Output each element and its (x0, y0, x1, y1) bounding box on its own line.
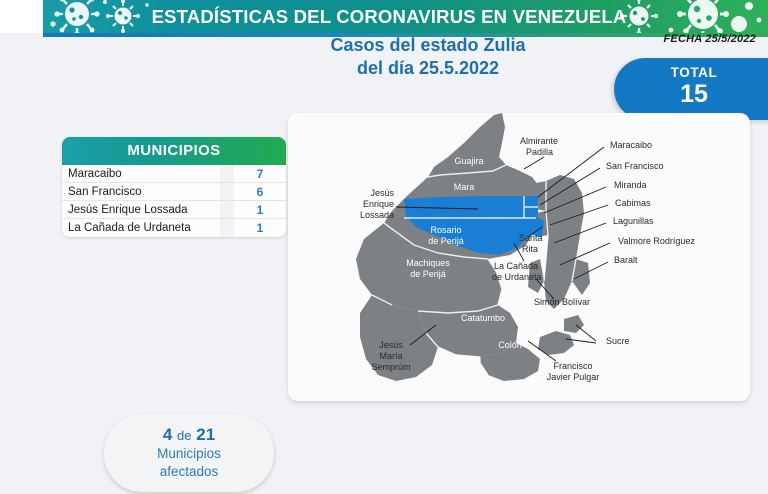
map-label: Valmore Rodríguez (618, 236, 695, 246)
map-label: Machiques (406, 258, 450, 268)
column-separator (220, 183, 234, 200)
table-row: San Francisco 6 (62, 183, 286, 201)
map-label: Rosario (430, 225, 461, 235)
table-row: Maracaibo 7 (62, 165, 286, 183)
total-label: TOTAL (614, 65, 768, 80)
municipality-guajira (428, 113, 506, 177)
map-label: Padilla (526, 147, 553, 157)
map-label: de Urdaneta (492, 272, 542, 282)
map-label: Francisco (553, 361, 592, 371)
municipio-name: La Cañada de Urdaneta (62, 222, 220, 234)
affected-count: 4 (163, 425, 172, 444)
main-title: Casos del estado Zulia del día 25.5.2022 (268, 34, 588, 80)
main-title-line2: del día 25.5.2022 (268, 57, 588, 80)
municipio-count: 1 (234, 221, 286, 235)
column-separator (220, 165, 234, 182)
column-separator (220, 201, 234, 218)
map-label: Maracaibo (610, 140, 652, 150)
municipio-count: 6 (234, 185, 286, 199)
virus-icon (599, 0, 768, 33)
map-label: San Francisco (606, 161, 664, 171)
map-label: Colón (498, 340, 522, 350)
municipio-name: San Francisco (62, 186, 220, 198)
map-label: Lagunillas (613, 216, 654, 226)
map-label: Semprúm (371, 362, 410, 372)
affected-count-line: 4 de 21 (104, 425, 274, 445)
map-label: La Cañada (494, 261, 538, 271)
map-label: Jesús (379, 340, 403, 350)
municipio-count: 1 (234, 203, 286, 217)
municipality-francisco-javier-pulgar (538, 331, 574, 355)
municipio-count: 7 (234, 167, 286, 181)
map-label: de Perijá (410, 269, 446, 279)
column-separator (220, 219, 234, 237)
map-label: Santa (519, 233, 543, 243)
map-label: Guajira (454, 156, 483, 166)
map-label: Rita (522, 244, 538, 254)
affected-label-line1: Municipios (104, 445, 274, 463)
map-label: Simón Bolívar (534, 297, 590, 307)
map-label: Almirante (520, 136, 558, 146)
map-label: Jesús (370, 188, 394, 198)
municipio-name: Jesús Enrique Lossada (62, 204, 220, 216)
header: ESTADÍSTICAS DEL CORONAVIRUS EN VENEZUEL… (0, 0, 768, 33)
map-label: Baralt (614, 255, 638, 265)
main-title-line1: Casos del estado Zulia (268, 34, 588, 57)
map-label: Catatumbo (461, 313, 505, 323)
infographic-page: ESTADÍSTICAS DEL CORONAVIRUS EN VENEZUEL… (0, 0, 768, 494)
map-label: Sucre (606, 336, 630, 346)
map-label: Cabimas (615, 198, 651, 208)
zulia-map: Guajira Mara Rosario de Perijá Machiques… (288, 113, 750, 401)
map-label: María (379, 351, 402, 361)
table-row: La Cañada de Urdaneta 1 (62, 219, 286, 237)
municipality-sucre (564, 315, 584, 333)
municipality-san-francisco (524, 208, 538, 218)
map-label: Javier Pulgar (547, 372, 600, 382)
table-row: Jesús Enrique Lossada 1 (62, 201, 286, 219)
map-label: Lossada (360, 210, 394, 220)
affected-label-line2: afectados (104, 463, 274, 481)
map-label: Enrique (363, 199, 394, 209)
map-label: Mara (454, 182, 475, 192)
map-label: Miranda (614, 180, 647, 190)
date-label: FECHA 25/5/2022 (664, 33, 756, 45)
total-value: 15 (614, 80, 768, 108)
affected-municipalities-badge: 4 de 21 Municipios afectados (104, 414, 274, 492)
municipios-table-header: MUNICIPIOS (62, 137, 286, 165)
de-label: de (177, 428, 191, 443)
page-title: ESTADÍSTICAS DEL CORONAVIRUS EN VENEZUEL… (139, 0, 639, 33)
total-municipalities: 21 (196, 425, 215, 444)
municipio-name: Maracaibo (62, 168, 220, 180)
header-bar: ESTADÍSTICAS DEL CORONAVIRUS EN VENEZUEL… (43, 0, 768, 33)
map-label: de Perijá (428, 236, 464, 246)
municipality-maracaibo (524, 196, 538, 206)
municipios-table: MUNICIPIOS Maracaibo 7 San Francisco 6 J… (62, 137, 286, 237)
total-badge: TOTAL 15 (614, 58, 768, 120)
